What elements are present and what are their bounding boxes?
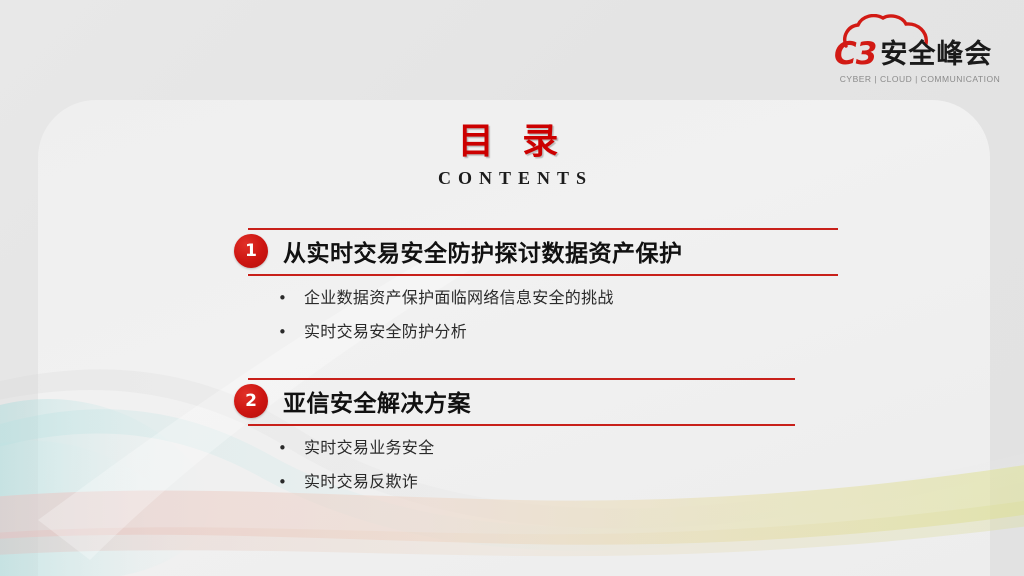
- page-title-cn: 目 录: [0, 122, 1024, 162]
- list-item[interactable]: • 实时交易业务安全: [278, 434, 928, 468]
- list-item-label: 实时交易安全防护分析: [304, 318, 467, 342]
- section-1-header: 1 从实时交易安全防护探讨数据资产保护: [0, 228, 1024, 278]
- slide-canvas: C3 安全峰会 CYBER | CLOUD | COMMUNICATION 目 …: [0, 0, 1024, 576]
- toc-section-2: 2 亚信安全解决方案 • 实时交易业务安全 • 实时交易反欺诈: [0, 378, 1024, 428]
- list-item[interactable]: • 实时交易安全防护分析: [278, 318, 928, 352]
- list-item-label: 实时交易反欺诈: [304, 468, 418, 492]
- section-2-rule-bottom: [248, 424, 795, 426]
- section-2-badge[interactable]: 2: [234, 384, 268, 418]
- bullet-marker-icon: •: [278, 325, 304, 340]
- section-1-rule-bottom: [248, 274, 838, 276]
- bullet-marker-icon: •: [278, 441, 304, 456]
- toc-section-1: 1 从实时交易安全防护探讨数据资产保护 • 企业数据资产保护面临网络信息安全的挑…: [0, 228, 1024, 278]
- logo-brand-cn: 安全峰会: [880, 41, 992, 68]
- section-2-title[interactable]: 亚信安全解决方案: [283, 384, 471, 418]
- section-2-rule-top: [248, 378, 795, 380]
- bullet-marker-icon: •: [278, 291, 304, 306]
- logo-tagline: CYBER | CLOUD | COMMUNICATION: [834, 74, 1006, 84]
- list-item-label: 企业数据资产保护面临网络信息安全的挑战: [304, 284, 614, 308]
- bullet-marker-icon: •: [278, 475, 304, 490]
- page-title-en: CONTENTS: [0, 168, 1024, 189]
- list-item[interactable]: • 企业数据资产保护面临网络信息安全的挑战: [278, 284, 928, 318]
- list-item[interactable]: • 实时交易反欺诈: [278, 468, 928, 502]
- section-2-bullets: • 实时交易业务安全 • 实时交易反欺诈: [278, 434, 928, 502]
- section-1-title[interactable]: 从实时交易安全防护探讨数据资产保护: [283, 234, 683, 268]
- section-2-header: 2 亚信安全解决方案: [0, 378, 1024, 428]
- list-item-label: 实时交易业务安全: [304, 434, 434, 458]
- section-1-badge[interactable]: 1: [234, 234, 268, 268]
- logo: C3 安全峰会 CYBER | CLOUD | COMMUNICATION: [834, 14, 1006, 90]
- section-1-bullets: • 企业数据资产保护面临网络信息安全的挑战 • 实时交易安全防护分析: [278, 284, 928, 352]
- section-1-rule-top: [248, 228, 838, 230]
- logo-wordmark: C3 安全峰会: [834, 36, 1006, 72]
- page-title: 目 录 CONTENTS: [0, 122, 1024, 189]
- logo-brand: C3: [834, 39, 876, 70]
